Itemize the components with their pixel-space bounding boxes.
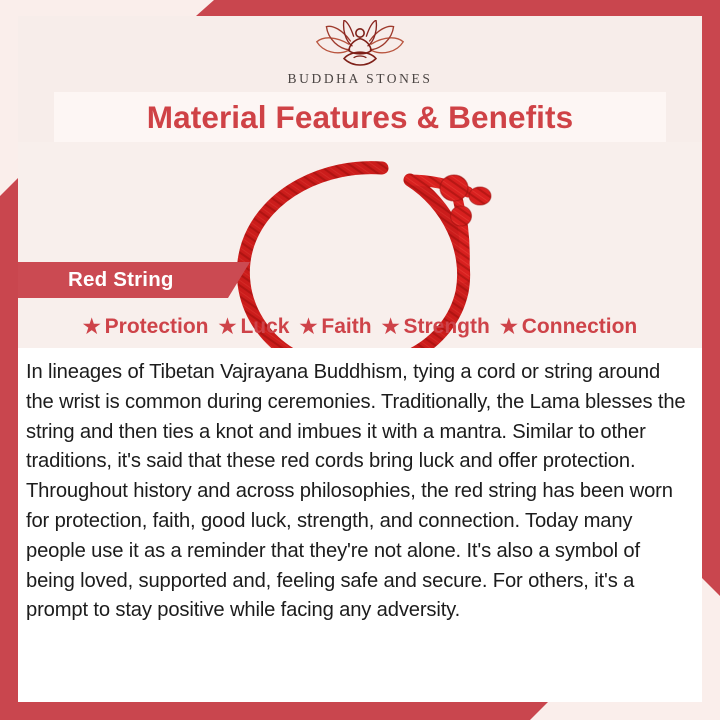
product-name-label: Red String (68, 268, 174, 292)
benefit-item: ★ Connection (500, 315, 637, 339)
brand-logo: BUDDHA STONES (18, 16, 702, 94)
infographic-page: BUDDHA STONES Material Features & Benefi… (0, 0, 720, 720)
page-title: Material Features & Benefits (147, 99, 573, 136)
benefit-item: ★ Luck (219, 315, 290, 339)
frame-left-accent-bar (0, 178, 18, 720)
benefit-label: Luck (240, 315, 289, 339)
frame-top-accent-bar (196, 0, 720, 16)
description-text: In lineages of Tibetan Vajrayana Buddhis… (26, 358, 688, 626)
frame-bottom-accent-bar (0, 702, 548, 720)
star-icon: ★ (382, 317, 400, 337)
brand-name: BUDDHA STONES (288, 71, 433, 87)
benefit-label: Protection (105, 315, 209, 339)
frame-right-accent-bar (702, 0, 720, 596)
benefit-item: ★ Faith (299, 315, 371, 339)
benefits-row: ★ Protection ★ Luck ★ Faith ★ Strength ★… (18, 308, 702, 346)
star-icon: ★ (299, 317, 317, 337)
benefit-label: Connection (522, 315, 638, 339)
benefit-item: ★ Strength (382, 315, 490, 339)
benefit-label: Faith (321, 315, 371, 339)
content-stage: BUDDHA STONES Material Features & Benefi… (18, 16, 702, 702)
product-name-banner: Red String (18, 262, 250, 298)
star-icon: ★ (219, 317, 237, 337)
benefit-item: ★ Protection (83, 315, 209, 339)
title-band: Material Features & Benefits (54, 92, 666, 142)
lotus-meditation-figure-icon (312, 20, 408, 70)
star-icon: ★ (500, 317, 518, 337)
description-card: In lineages of Tibetan Vajrayana Buddhis… (18, 348, 702, 702)
benefit-label: Strength (404, 315, 490, 339)
star-icon: ★ (83, 317, 101, 337)
